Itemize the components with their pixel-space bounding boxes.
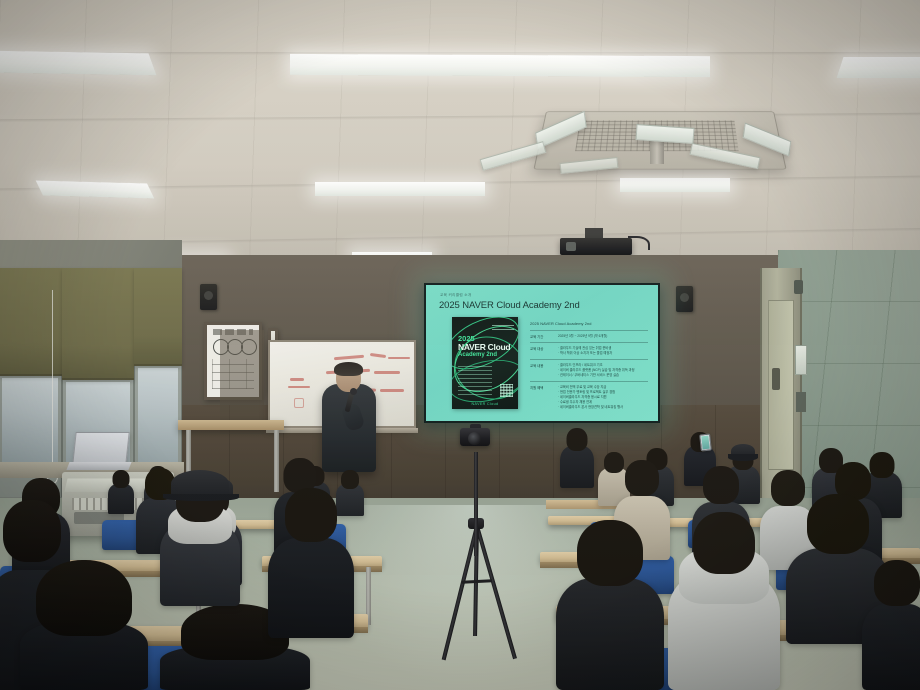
slide-poster-image: 2025 NAVER Cloud Academy 2nd NAVER Cloud [452, 317, 518, 409]
slide-kicker: 교육 커리큘럼 소개 [440, 293, 471, 298]
poster-eyebrow-text [492, 322, 514, 330]
poster-program: Academy 2nd [458, 352, 497, 358]
ceiling-light [620, 178, 730, 192]
info-value: · 컨테이너 / 쿠버네티스 기반 서비스 운영 실습 [558, 373, 648, 378]
wall-speaker [200, 284, 217, 310]
slide-title: 2025 NAVER Cloud Academy 2nd [439, 300, 580, 311]
light-switch-panel[interactable] [795, 345, 807, 375]
ceiling-light [0, 51, 157, 76]
projection-screen: 교육 커리큘럼 소개 2025 NAVER Cloud Academy 2nd … [424, 283, 660, 423]
info-row: 교육 내용· 클라우드 인프라 / 네트워크 기초· 네이버 클라우드 플랫폼 … [530, 359, 648, 381]
audience-member [560, 428, 594, 488]
wall-speaker [676, 286, 693, 312]
audience-member [862, 560, 920, 690]
info-row: 지원 혜택· 교육비 전액 무료 및 교육 수당 지급· 현업 전문가 멘토링 … [530, 381, 648, 413]
phone-screen [701, 436, 709, 450]
info-value: · 학사 학위 이상 소지자 또는 졸업 예정자 [558, 351, 648, 356]
poster-body-text [458, 363, 492, 395]
poster-logo: NAVER Cloud [472, 402, 499, 406]
slide-content: 교육 커리큘럼 소개 2025 NAVER Cloud Academy 2nd … [426, 285, 658, 421]
window-glass [2, 378, 58, 466]
info-row-values: · 클라우드 인프라 / 네트워크 기초· 네이버 클라우드 플랫폼 (NCP)… [558, 363, 648, 378]
info-heading: 2025 NAVER Cloud Academy 2nd [530, 321, 648, 326]
laptop-screen [72, 432, 129, 464]
info-row-label: 교육 대상 [530, 346, 552, 356]
audience-member [108, 470, 134, 514]
qr-code-icon [500, 384, 513, 397]
glasses-icon [338, 374, 359, 378]
ac-mount-post [650, 138, 664, 164]
ceiling-light [36, 181, 155, 199]
audience-member [556, 520, 664, 690]
info-row-values: 2025년 3월 ~ 2025년 9월 (약 6개월) [558, 334, 648, 339]
info-value: · 네이버클라우드 본사 현장견학 및 네트워킹 행사 [558, 405, 648, 410]
blind-cord[interactable] [52, 290, 53, 475]
slide-info-pane: 2025 NAVER Cloud Academy 2nd 교육 기간2025년 … [530, 321, 648, 413]
ceiling-light [290, 54, 710, 77]
door-handle[interactable] [772, 368, 780, 390]
audience-member [20, 560, 148, 690]
window-glass [138, 368, 178, 468]
tripod-column [474, 452, 478, 556]
audience-member [160, 478, 240, 606]
window-blind[interactable] [62, 268, 134, 380]
info-row: 교육 대상· 클라우드 기술에 관심 있는 취업 준비생· 학사 학위 이상 소… [530, 342, 648, 359]
ceiling [0, 0, 920, 270]
audience-member [268, 488, 354, 638]
info-row: 교육 기간2025년 3월 ~ 2025년 9월 (약 6개월) [530, 330, 648, 342]
projector-lens-icon [566, 242, 576, 251]
audience-member [668, 512, 780, 690]
speaker-cone-icon [204, 291, 213, 300]
lectern-table [178, 420, 284, 430]
laptop-keyboard[interactable] [66, 462, 131, 470]
info-row-values: · 클라우드 기술에 관심 있는 취업 준비생· 학사 학위 이상 소지자 또는… [558, 346, 648, 356]
smartphone[interactable] [699, 433, 712, 451]
ceiling-light [837, 57, 920, 78]
speaker-cone-icon [680, 293, 689, 302]
wall-column [220, 330, 264, 434]
info-row-values: · 교육비 전액 무료 및 교육 수당 지급· 현업 전문가 멘토링 및 프로젝… [558, 385, 648, 410]
camera-lens-icon [468, 432, 481, 445]
info-row-label: 교육 내용 [530, 363, 552, 378]
info-rows: 교육 기간2025년 3월 ~ 2025년 9월 (약 6개월)교육 대상· 클… [530, 330, 648, 413]
microphone-head [350, 388, 357, 395]
motion-sensor-icon [794, 280, 803, 294]
projector-cable [628, 236, 650, 250]
lecture-hall-photo: 교육 커리큘럼 소개 2025 NAVER Cloud Academy 2nd … [0, 0, 920, 690]
info-value: 2025년 3월 ~ 2025년 9월 (약 6개월) [558, 334, 648, 339]
poster-brand: NAVER Cloud [458, 342, 510, 352]
wall-outlet[interactable] [796, 392, 806, 412]
info-row-label: 지원 혜택 [530, 385, 552, 410]
ceiling-light [315, 182, 485, 196]
info-row-label: 교육 기간 [530, 334, 552, 339]
window-blind[interactable] [134, 268, 182, 366]
